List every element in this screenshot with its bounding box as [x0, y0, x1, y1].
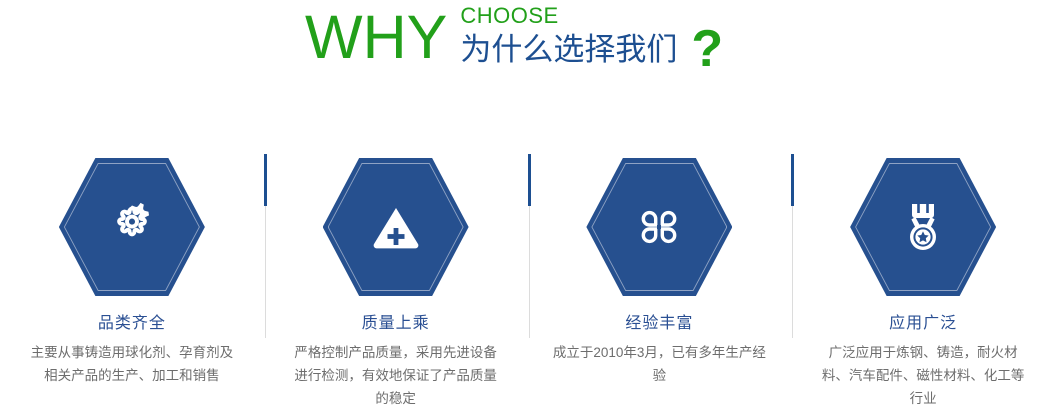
- feature-title-4: 应用广泛: [889, 314, 957, 334]
- heading-chinese-title: 为什么选择我们: [460, 31, 677, 69]
- heading-why: WHY: [305, 2, 447, 72]
- gear-icon: [59, 158, 205, 296]
- column-divider-2: [528, 154, 531, 338]
- feature-icon-badge-1: [59, 158, 205, 296]
- medal-star-icon: [850, 158, 996, 296]
- triangle-plus-icon: [323, 158, 469, 296]
- feature-desc-3: 成立于2010年3月，已有多年生产经验: [552, 341, 767, 387]
- feature-column-4: 应用广泛 广泛应用于炼钢、铸造，耐火材料、汽车配件、磁性材料、化工等行业: [791, 140, 1055, 416]
- feature-title-1: 品类齐全: [98, 314, 166, 334]
- clover-icon: [586, 158, 732, 296]
- feature-desc-4: 广泛应用于炼钢、铸造，耐火材料、汽车配件、磁性材料、化工等行业: [821, 341, 1026, 410]
- feature-icon-badge-2: [323, 158, 469, 296]
- divider-blue-segment: [264, 154, 267, 206]
- feature-column-1: 品类齐全 主要从事铸造用球化剂、孕育剂及相关产品的生产、加工和销售: [0, 140, 264, 416]
- divider-gray-segment: [792, 206, 793, 338]
- feature-title-3: 经验丰富: [625, 314, 693, 334]
- feature-column-3: 经验丰富 成立于2010年3月，已有多年生产经验: [528, 140, 792, 416]
- header-text-group: WHY CHOOSE 为什么选择我们 ?: [305, 2, 723, 78]
- feature-icon-badge-4: [850, 158, 996, 296]
- column-divider-3: [791, 154, 794, 338]
- feature-column-2: 质量上乘 严格控制产品质量，采用先进设备进行检测，有效地保证了产品质量的稳定: [264, 140, 528, 416]
- heading-middle-stack: CHOOSE 为什么选择我们: [460, 4, 677, 69]
- page-header: WHY CHOOSE 为什么选择我们 ?: [0, 0, 1055, 95]
- divider-gray-segment: [529, 206, 530, 338]
- divider-blue-segment: [528, 154, 531, 206]
- feature-title-2: 质量上乘: [362, 314, 430, 334]
- feature-desc-1: 主要从事铸造用球化剂、孕育剂及相关产品的生产、加工和销售: [24, 341, 239, 387]
- feature-columns: 品类齐全 主要从事铸造用球化剂、孕育剂及相关产品的生产、加工和销售 质量上乘 严…: [0, 140, 1055, 416]
- feature-icon-badge-3: [586, 158, 732, 296]
- heading-choose: CHOOSE: [460, 4, 677, 28]
- divider-gray-segment: [265, 206, 266, 338]
- column-divider-1: [264, 154, 267, 338]
- divider-blue-segment: [791, 154, 794, 206]
- feature-desc-2: 严格控制产品质量，采用先进设备进行检测，有效地保证了产品质量的稳定: [288, 341, 503, 410]
- heading-question-mark: ?: [691, 20, 723, 78]
